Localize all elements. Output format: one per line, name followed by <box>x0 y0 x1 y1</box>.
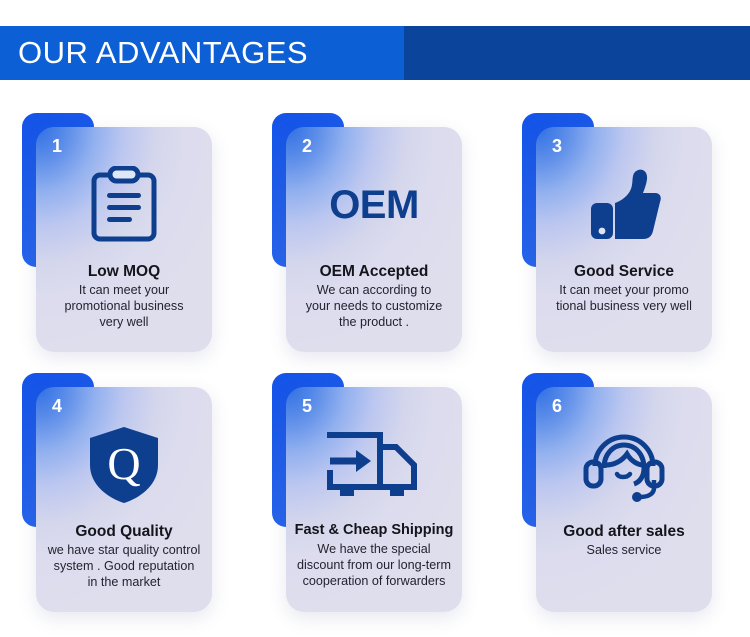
card-title-2: OEM Accepted <box>316 263 433 280</box>
advantages-infographic: OUR ADVANTAGES 1 Low MOQ It can meet <box>0 0 750 637</box>
card-title-4: Good Quality <box>71 523 176 540</box>
headset-support-icon <box>536 409 712 521</box>
header-curve-shape <box>296 26 406 80</box>
card-title-6: Good after sales <box>559 523 688 540</box>
advantage-card-6[interactable]: 6 Good after sales Sales service <box>536 387 712 612</box>
svg-text:Q: Q <box>107 438 140 489</box>
advantage-cell-1: 1 Low MOQ It can meet your promotional b… <box>0 104 250 364</box>
card-title-3: Good Service <box>570 263 678 280</box>
advantage-card-2[interactable]: 2 OEM OEM Accepted We can according to y… <box>286 127 462 352</box>
card-desc-1: It can meet your promotional business ve… <box>58 283 189 331</box>
card-desc-3: It can meet your promo tional business v… <box>550 283 698 315</box>
advantage-cell-5: 5 Fast & Cheap Shipping We have the spec… <box>250 364 500 624</box>
card-number-6: 6 <box>552 397 562 415</box>
card-number-2: 2 <box>302 137 312 155</box>
card-desc-6: Sales service <box>581 543 668 559</box>
header-banner: OUR ADVANTAGES <box>0 26 750 80</box>
advantage-cell-6: 6 Good after sales Sales service <box>500 364 750 624</box>
card-desc-5: We have the special discount from our lo… <box>291 542 457 590</box>
card-number-4: 4 <box>52 397 62 415</box>
oem-text-icon: OEM <box>286 149 462 261</box>
advantage-card-5[interactable]: 5 Fast & Cheap Shipping We have the spec… <box>286 387 462 612</box>
card-number-1: 1 <box>52 137 62 155</box>
delivery-truck-icon <box>286 409 462 521</box>
clipboard-icon <box>36 149 212 261</box>
card-desc-4: we have star quality control system . Go… <box>42 543 207 591</box>
advantage-cell-4: 4 Q Good Quality we have star quality co… <box>0 364 250 624</box>
page-title: OUR ADVANTAGES <box>18 26 308 80</box>
card-desc-2: We can according to your needs to custom… <box>300 283 449 331</box>
advantages-grid: 1 Low MOQ It can meet your promotional b… <box>0 104 750 624</box>
advantage-card-4[interactable]: 4 Q Good Quality we have star quality co… <box>36 387 212 612</box>
card-number-5: 5 <box>302 397 312 415</box>
thumbs-up-icon <box>536 149 712 261</box>
advantage-card-3[interactable]: 3 Good Service It can meet your promo ti… <box>536 127 712 352</box>
shield-quality-icon: Q <box>36 409 212 521</box>
advantage-cell-2: 2 OEM OEM Accepted We can according to y… <box>250 104 500 364</box>
card-title-1: Low MOQ <box>84 263 164 280</box>
card-title-5: Fast & Cheap Shipping <box>291 523 458 539</box>
oem-label: OEM <box>329 185 419 225</box>
card-number-3: 3 <box>552 137 562 155</box>
advantage-cell-3: 3 Good Service It can meet your promo ti… <box>500 104 750 364</box>
advantage-card-1[interactable]: 1 Low MOQ It can meet your promotional b… <box>36 127 212 352</box>
